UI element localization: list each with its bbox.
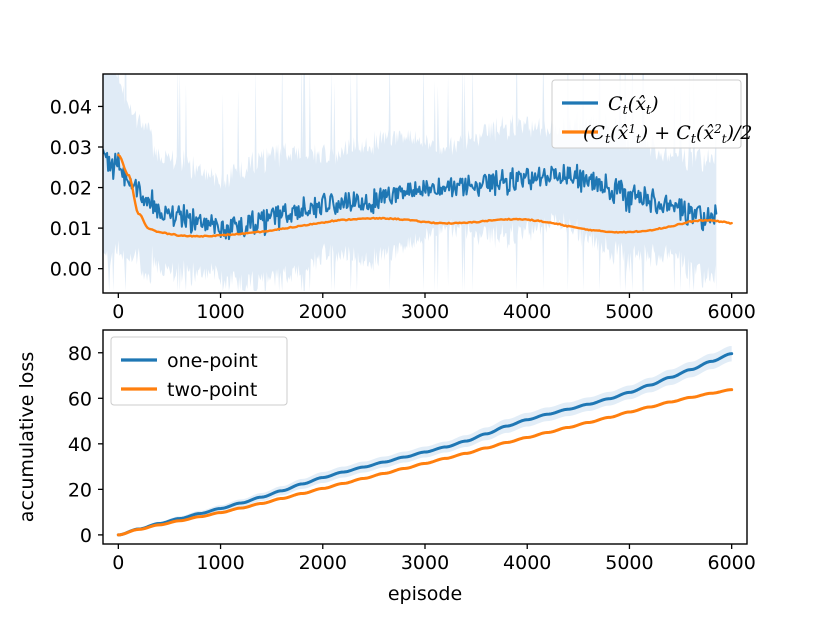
figure-container: 0100020003000400050006000 0.000.010.020.…: [0, 0, 830, 623]
top-legend-label-one-point: Ct(x̂t): [608, 93, 659, 118]
x-tick-label: 0: [112, 301, 124, 323]
x-tick-label: 1000: [196, 552, 244, 574]
x-tick-label: 0: [112, 552, 124, 574]
y-axis-label: accumulative loss: [16, 352, 38, 522]
x-axis-label: episode: [388, 583, 462, 605]
top-legend[interactable]: Ct(x̂t) (Ct(x̂1t) + Ct(x̂2t)/2: [552, 80, 753, 148]
x-tick-label: 5000: [605, 552, 653, 574]
x-tick-label: 1000: [196, 301, 244, 323]
bottom-legend-label-one-point: one-point: [167, 350, 258, 372]
y-tick-label: 0.03: [50, 137, 92, 159]
x-tick-label: 4000: [503, 552, 551, 574]
x-tick-label: 2000: [299, 552, 347, 574]
y-tick-label: 0.04: [50, 96, 92, 118]
x-tick-label: 3000: [401, 301, 449, 323]
x-tick-label: 2000: [299, 301, 347, 323]
bottom-legend-label-two-point: two-point: [167, 379, 257, 401]
y-tick-label: 0.01: [50, 218, 92, 240]
y-tick-label: 0: [80, 525, 92, 547]
y-tick-label: 20: [68, 479, 92, 501]
x-tick-label: 5000: [605, 301, 653, 323]
x-tick-label: 6000: [707, 552, 755, 574]
y-tick-label: 0.00: [50, 259, 92, 281]
y-tick-label: 80: [68, 343, 92, 365]
x-tick-label: 3000: [401, 552, 449, 574]
matplotlib-figure: 0100020003000400050006000 0.000.010.020.…: [0, 0, 830, 623]
x-tick-label: 4000: [503, 301, 551, 323]
bottom-legend[interactable]: one-point two-point: [111, 337, 287, 405]
y-tick-label: 60: [68, 388, 92, 410]
y-tick-label: 40: [68, 434, 92, 456]
x-tick-label: 6000: [707, 301, 755, 323]
y-tick-label: 0.02: [50, 178, 92, 200]
